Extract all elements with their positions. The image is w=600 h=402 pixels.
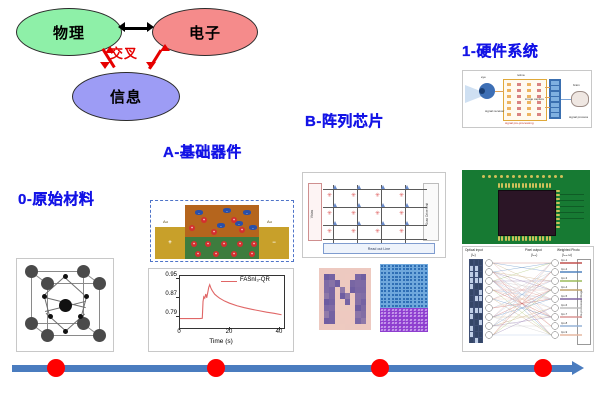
pattern-cell bbox=[414, 294, 416, 296]
pcb-pad bbox=[535, 183, 537, 188]
timeline-marker-2[interactable] bbox=[371, 359, 389, 377]
input-pixel bbox=[470, 290, 473, 295]
pcb-pad bbox=[539, 183, 541, 188]
retina-cell bbox=[507, 107, 511, 110]
crossbar-vbias-rail: Vbias bbox=[308, 183, 322, 241]
pattern-cell bbox=[418, 268, 420, 270]
pattern-cell bbox=[399, 294, 401, 296]
pattern-cell bbox=[392, 287, 394, 289]
pattern-cell bbox=[414, 301, 416, 303]
chart-ytick-0: 0.79 bbox=[149, 310, 177, 316]
section-title-stage0: 0-原始材料 bbox=[18, 188, 94, 209]
input-pixel bbox=[470, 266, 473, 271]
pcb-via bbox=[548, 175, 551, 178]
pattern-cell bbox=[388, 305, 390, 307]
pattern-cell bbox=[395, 298, 397, 300]
electrode-sign-right: − bbox=[272, 240, 276, 246]
pattern-cell bbox=[414, 319, 416, 321]
pcb-pad bbox=[556, 210, 560, 212]
pattern-cell bbox=[403, 272, 405, 274]
pattern-cell bbox=[406, 290, 408, 292]
pcb-pad bbox=[542, 183, 544, 188]
pattern-cell bbox=[425, 283, 427, 285]
pattern-cell bbox=[388, 298, 390, 300]
nn-subheader-pixel-output: (Iₒᵤₜ) bbox=[531, 253, 537, 257]
pattern-cell bbox=[392, 268, 394, 270]
pattern-cell bbox=[384, 305, 386, 307]
pcb-pad bbox=[512, 236, 514, 241]
input-pixel bbox=[475, 308, 478, 313]
pattern-cell bbox=[403, 305, 405, 307]
pcb-pad bbox=[522, 236, 524, 241]
pcb-pad bbox=[498, 236, 500, 241]
pcb-pad bbox=[556, 218, 560, 220]
pattern-cell bbox=[388, 272, 390, 274]
input-pixel bbox=[479, 332, 482, 337]
pattern-cell bbox=[410, 294, 412, 296]
pattern-cell bbox=[421, 268, 423, 270]
pattern-cell bbox=[388, 276, 390, 278]
pattern-cell bbox=[391, 326, 393, 328]
pattern-cell bbox=[421, 305, 423, 307]
input-pixel bbox=[470, 302, 473, 307]
pattern-cell bbox=[384, 276, 386, 278]
pattern-cell bbox=[425, 272, 427, 274]
pattern-cell bbox=[399, 268, 401, 270]
input-pixel bbox=[475, 278, 478, 283]
pattern-cell bbox=[381, 283, 383, 285]
input-pixel bbox=[475, 332, 478, 337]
pattern-cell bbox=[417, 329, 419, 331]
pattern-cell bbox=[417, 309, 419, 311]
retina-cell bbox=[537, 83, 541, 86]
pcb-via bbox=[494, 175, 497, 178]
pcb-pad bbox=[546, 183, 548, 188]
pixel-cell bbox=[551, 86, 559, 90]
timeline-marker-3[interactable] bbox=[534, 359, 552, 377]
input-pixel bbox=[470, 314, 473, 319]
pixel-cell bbox=[551, 81, 559, 85]
retina-cell bbox=[517, 95, 521, 98]
crossbar-scan-drive-unit: Scan Drive Unit bbox=[423, 183, 439, 241]
bio-label-signal-receiver: signal receiver bbox=[485, 109, 504, 113]
pattern-cell bbox=[399, 301, 401, 303]
pattern-cell bbox=[388, 279, 390, 281]
pattern-cell bbox=[421, 276, 423, 278]
pattern-cell bbox=[414, 272, 416, 274]
pattern-cell bbox=[391, 309, 393, 311]
bio-label-signal-preprocessing: signal pre-processing bbox=[505, 121, 534, 125]
pattern-cell bbox=[414, 279, 416, 281]
pattern-cell bbox=[406, 268, 408, 270]
input-pixel bbox=[470, 308, 473, 313]
chart-ytick-1: 0.87 bbox=[149, 291, 177, 297]
panel-photodetector-cross-section: + − Au Au - - - - - - + + + + + + + + + … bbox=[150, 200, 294, 262]
pattern-cell bbox=[418, 272, 420, 274]
retina-cell bbox=[537, 89, 541, 92]
bio-label-brain: brain bbox=[573, 83, 580, 87]
pattern-cell bbox=[395, 305, 397, 307]
retina-cell bbox=[527, 101, 531, 104]
pcb-pad bbox=[556, 214, 560, 216]
pattern-cell bbox=[392, 276, 394, 278]
pattern-cell bbox=[384, 268, 386, 270]
m-pixel bbox=[366, 324, 371, 330]
input-pixel bbox=[475, 302, 478, 307]
pattern-cell bbox=[418, 298, 420, 300]
pattern-cell bbox=[399, 290, 401, 292]
pattern-cell bbox=[399, 287, 401, 289]
pattern-cell bbox=[395, 287, 397, 289]
input-pixel bbox=[475, 260, 478, 265]
venn-label-physics: 物理 bbox=[53, 22, 85, 43]
pcb-pad bbox=[529, 236, 531, 241]
panel-pixel-array-pattern bbox=[380, 264, 428, 332]
pattern-cell bbox=[395, 294, 397, 296]
venn-node-information: 信息 bbox=[72, 72, 180, 121]
pattern-cell bbox=[425, 326, 427, 328]
venn-arrowhead-right-diagonal-b bbox=[160, 44, 170, 51]
pattern-cell bbox=[381, 279, 383, 281]
nn-output-label: Ipx-6 bbox=[561, 303, 567, 307]
pattern-cell bbox=[421, 279, 423, 281]
nn-output-box-label: Pre-processed image bbox=[579, 284, 583, 324]
pattern-cell bbox=[395, 272, 397, 274]
input-pixel bbox=[479, 338, 482, 343]
pcb-pad bbox=[556, 222, 560, 224]
nn-output-label: Ipx-1 bbox=[561, 258, 567, 262]
retina-cell bbox=[527, 89, 531, 92]
retina-cell bbox=[527, 107, 531, 110]
section-title-stageB: B-阵列芯片 bbox=[305, 110, 384, 131]
pattern-cell bbox=[399, 279, 401, 281]
pattern-cell bbox=[406, 298, 408, 300]
retina-cell bbox=[517, 83, 521, 86]
pattern-cell bbox=[403, 276, 405, 278]
pattern-cell bbox=[425, 298, 427, 300]
bio-label-image-capture: image capture bbox=[525, 97, 544, 101]
pattern-cell bbox=[418, 283, 420, 285]
panel-crossbar-array: Vbias Scan Drive Unit Read out Line ✳ ✳ … bbox=[302, 172, 446, 258]
input-pixel bbox=[475, 314, 478, 319]
pattern-cell bbox=[410, 279, 412, 281]
pcb-pad bbox=[515, 183, 517, 188]
pcb-pad bbox=[556, 198, 560, 200]
pattern-cell bbox=[425, 294, 427, 296]
pcb-pad bbox=[556, 194, 560, 196]
nn-header-pixel-output: Pixel output bbox=[525, 248, 542, 252]
chart-series-svg bbox=[180, 276, 284, 328]
pattern-cell bbox=[392, 272, 394, 274]
nn-header-weighted-photo: Weighted Photo bbox=[557, 248, 580, 252]
pattern-cell bbox=[410, 283, 412, 285]
input-pixel bbox=[475, 284, 478, 289]
pattern-cell bbox=[381, 301, 383, 303]
brain-icon bbox=[571, 91, 589, 107]
retina-cell bbox=[507, 83, 511, 86]
pixel-cell bbox=[551, 97, 559, 101]
pattern-cell bbox=[381, 272, 383, 274]
pattern-cell bbox=[421, 294, 423, 296]
venn-arrowhead-right bbox=[147, 22, 154, 32]
input-pixel bbox=[470, 284, 473, 289]
pcb-pad bbox=[532, 183, 534, 188]
pcb-pad bbox=[542, 236, 544, 241]
pattern-cell bbox=[414, 276, 416, 278]
pattern-cell bbox=[417, 319, 419, 321]
pcb-pad bbox=[518, 236, 520, 241]
pattern-cell bbox=[421, 265, 423, 267]
pcb-pad bbox=[505, 236, 507, 241]
pcb-pad bbox=[535, 236, 537, 241]
chart-xaxis-label: Time (s) bbox=[149, 338, 293, 345]
panel-weighted-photodetector-network: Optical input (Iₑₗ) Pixel output (Iₒᵤₜ) … bbox=[462, 246, 594, 352]
pattern-cell bbox=[381, 305, 383, 307]
pattern-cell bbox=[388, 294, 390, 296]
input-pixel bbox=[479, 260, 482, 265]
pattern-cell bbox=[406, 265, 408, 267]
pattern-cell bbox=[425, 279, 427, 281]
pattern-cell bbox=[388, 287, 390, 289]
pixel-cell bbox=[551, 92, 559, 96]
pcb-pad bbox=[505, 183, 507, 188]
pattern-cell bbox=[403, 265, 405, 267]
pattern-cell bbox=[380, 309, 382, 311]
pcb-pad bbox=[508, 236, 510, 241]
pcb-pad bbox=[501, 236, 503, 241]
pattern-cell bbox=[403, 268, 405, 270]
pattern-cell bbox=[406, 305, 408, 307]
pattern-cell bbox=[414, 298, 416, 300]
pcb-via bbox=[518, 175, 521, 178]
venn-label-electronics: 电子 bbox=[189, 22, 221, 43]
pattern-cell bbox=[381, 287, 383, 289]
retina-cell bbox=[537, 101, 541, 104]
pattern-cell bbox=[381, 294, 383, 296]
venn-center-label: 交叉 bbox=[110, 43, 138, 62]
nn-output-label: Ipx-4 bbox=[561, 285, 567, 289]
chart-legend-label: FASnI₃-QR bbox=[240, 277, 270, 283]
pattern-cell bbox=[410, 305, 412, 307]
nn-output-label: Ipx-3 bbox=[561, 276, 567, 280]
pattern-cell bbox=[399, 283, 401, 285]
pcb-pad bbox=[508, 183, 510, 188]
pattern-cell bbox=[380, 326, 382, 328]
input-pixel bbox=[470, 278, 473, 283]
pcb-pad bbox=[556, 202, 560, 204]
input-pixel bbox=[470, 260, 473, 265]
chart-ytick-2: 0.95 bbox=[149, 272, 177, 278]
retina-cell bbox=[507, 113, 511, 116]
pcb-pad bbox=[546, 236, 548, 241]
pcb-pad bbox=[556, 226, 560, 228]
pattern-cell bbox=[388, 265, 390, 267]
input-pixel bbox=[475, 296, 478, 301]
section-title-stageA: A-基础器件 bbox=[163, 141, 242, 162]
pattern-cell bbox=[414, 290, 416, 292]
input-pixel bbox=[479, 320, 482, 325]
input-pixel bbox=[470, 338, 473, 343]
pcb-pad bbox=[522, 183, 524, 188]
pattern-cell bbox=[421, 301, 423, 303]
electrode-label-right: Au bbox=[267, 219, 272, 224]
panel-imaging-chip-pcb bbox=[462, 170, 590, 244]
pattern-cell bbox=[399, 265, 401, 267]
nn-output-label: Ipx-2 bbox=[561, 267, 567, 271]
panel-letter-m-image bbox=[319, 268, 371, 330]
input-pixel bbox=[479, 326, 482, 331]
pattern-cell bbox=[418, 287, 420, 289]
electrode-sign-left: + bbox=[168, 240, 172, 246]
pixel-cell bbox=[551, 113, 559, 117]
pattern-cell bbox=[406, 276, 408, 278]
retina-cell bbox=[517, 89, 521, 92]
crossbar-readout-label: Read out Line bbox=[368, 247, 390, 251]
pattern-cell bbox=[418, 290, 420, 292]
pattern-cell bbox=[425, 276, 427, 278]
panel-perovskite-unit-cell bbox=[16, 258, 114, 352]
pattern-cell bbox=[406, 283, 408, 285]
pattern-cell bbox=[381, 276, 383, 278]
pattern-cell bbox=[418, 279, 420, 281]
retina-cell bbox=[537, 107, 541, 110]
pattern-cell bbox=[403, 290, 405, 292]
input-pixel bbox=[479, 302, 482, 307]
pattern-cell bbox=[381, 265, 383, 267]
pattern-cell bbox=[425, 290, 427, 292]
pattern-cell bbox=[414, 312, 416, 314]
pcb-via bbox=[512, 175, 515, 178]
input-pixel bbox=[479, 290, 482, 295]
panel-photoresponse-chart: 0.95 0.87 0.79 0 20 40 Time (s) FASnI₃-Q… bbox=[148, 268, 294, 352]
venn-arrow-horizontal bbox=[124, 27, 148, 30]
pattern-cell bbox=[381, 298, 383, 300]
pattern-cell bbox=[410, 298, 412, 300]
pcb-via bbox=[536, 175, 539, 178]
pcb-via bbox=[488, 175, 491, 178]
pattern-cell bbox=[425, 287, 427, 289]
retina-cell bbox=[517, 107, 521, 110]
pcb-pad bbox=[515, 236, 517, 241]
input-pixel bbox=[479, 314, 482, 319]
retina-cell bbox=[507, 95, 511, 98]
electrode-label-left: Au bbox=[163, 219, 168, 224]
pattern-cell bbox=[384, 301, 386, 303]
pattern-cell bbox=[403, 298, 405, 300]
nn-input-image-block bbox=[469, 259, 483, 343]
timeline-marker-1[interactable] bbox=[207, 359, 225, 377]
pattern-cell bbox=[392, 305, 394, 307]
pattern-cell bbox=[410, 268, 412, 270]
input-pixel bbox=[470, 332, 473, 337]
pattern-cell bbox=[399, 272, 401, 274]
pattern-cell bbox=[399, 276, 401, 278]
pattern-cell bbox=[395, 268, 397, 270]
pattern-cell bbox=[391, 319, 393, 321]
timeline-axis bbox=[12, 365, 574, 372]
venn-arrowhead-right-diagonal-a bbox=[146, 62, 156, 69]
crossbar-vbias-label: Vbias bbox=[310, 197, 314, 231]
pcb-pad bbox=[539, 236, 541, 241]
electrode-left: + bbox=[155, 227, 185, 259]
pcb-via bbox=[500, 175, 503, 178]
venn-arrowhead-left bbox=[118, 22, 125, 32]
retina-cell bbox=[537, 113, 541, 116]
pattern-cell bbox=[403, 301, 405, 303]
pattern-cell bbox=[414, 309, 416, 311]
pcb-pad bbox=[556, 206, 560, 208]
input-pixel bbox=[475, 326, 478, 331]
pattern-cell bbox=[392, 294, 394, 296]
pcb-via bbox=[524, 175, 527, 178]
pattern-cell bbox=[381, 290, 383, 292]
pattern-cell bbox=[392, 279, 394, 281]
input-pixel bbox=[475, 272, 478, 277]
pattern-cell bbox=[410, 290, 412, 292]
pcb-pad bbox=[532, 236, 534, 241]
input-pixel bbox=[470, 320, 473, 325]
pattern-cell bbox=[425, 305, 427, 307]
pattern-cell bbox=[392, 283, 394, 285]
pcb-pad bbox=[556, 190, 560, 192]
pattern-cell bbox=[421, 272, 423, 274]
pattern-cell bbox=[406, 287, 408, 289]
timeline-marker-0[interactable] bbox=[47, 359, 65, 377]
pattern-cell bbox=[417, 326, 419, 328]
input-pixel bbox=[470, 296, 473, 301]
venn-label-information: 信息 bbox=[110, 86, 142, 107]
pcb-pad bbox=[549, 236, 551, 241]
bio-label-eye: eye bbox=[481, 75, 486, 79]
pattern-cell bbox=[395, 283, 397, 285]
pattern-cell bbox=[395, 265, 397, 267]
figure-canvas: 物理 电子 信息 交叉 0-原始材料 A-基础器件 B-阵列芯片 1-硬件系统 bbox=[0, 0, 600, 402]
pcb-via bbox=[482, 175, 485, 178]
pattern-cell bbox=[414, 265, 416, 267]
pattern-cell bbox=[418, 265, 420, 267]
retina-cell bbox=[517, 113, 521, 116]
pattern-cell bbox=[425, 301, 427, 303]
pattern-cell bbox=[388, 301, 390, 303]
pattern-cell bbox=[425, 265, 427, 267]
input-pixel bbox=[475, 290, 478, 295]
pattern-cell bbox=[399, 298, 401, 300]
input-pixel bbox=[479, 278, 482, 283]
nn-output-label: Ipx-8 bbox=[561, 321, 567, 325]
pattern-cell bbox=[384, 279, 386, 281]
pattern-cell bbox=[395, 279, 397, 281]
pattern-cell bbox=[395, 301, 397, 303]
input-pixel bbox=[479, 272, 482, 277]
nn-output-label: Ipx-5 bbox=[561, 294, 567, 298]
nn-output-box: Pre-processed image bbox=[577, 259, 591, 345]
pattern-cell bbox=[421, 287, 423, 289]
retina-cell bbox=[527, 113, 531, 116]
pattern-cell bbox=[395, 276, 397, 278]
pattern-cell bbox=[425, 309, 427, 311]
pattern-cell bbox=[395, 290, 397, 292]
retina-cell bbox=[527, 83, 531, 86]
pattern-cell bbox=[421, 290, 423, 292]
pattern-cell bbox=[418, 301, 420, 303]
pattern-cell bbox=[384, 298, 386, 300]
bio-label-signal-process: signal process bbox=[569, 115, 588, 119]
pcb-via bbox=[506, 175, 509, 178]
pattern-cell bbox=[410, 272, 412, 274]
nn-output-label: Ipx-9 bbox=[561, 330, 567, 334]
retina-cell bbox=[517, 101, 521, 104]
pattern-cell bbox=[425, 268, 427, 270]
